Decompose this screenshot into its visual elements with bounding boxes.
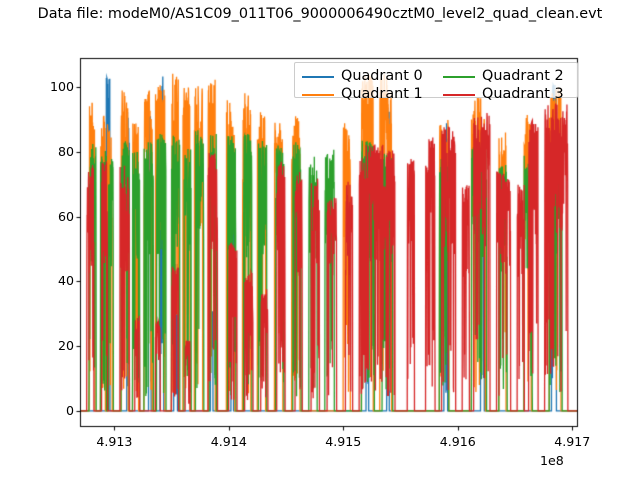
legend-label: Quadrant 3 xyxy=(482,86,564,103)
x-tick-label: 4.914 xyxy=(189,434,269,449)
matplotlib-figure: Data file: modeM0/AS1C09_011T06_90000064… xyxy=(0,0,640,480)
y-tick-label: 0 xyxy=(66,403,74,418)
x-tick-label: 4.915 xyxy=(303,434,383,449)
legend: Quadrant 0Quadrant 2Quadrant 1Quadrant 3 xyxy=(294,62,578,98)
x-tick-label: 4.916 xyxy=(418,434,498,449)
legend-color-swatch xyxy=(443,76,475,78)
legend-entries: Quadrant 0Quadrant 2Quadrant 1Quadrant 3 xyxy=(295,63,577,108)
y-tick-label: 60 xyxy=(58,209,74,224)
legend-entry: Quadrant 3 xyxy=(443,86,570,103)
x-axis-offset-text: 1e8 xyxy=(540,453,564,468)
legend-entry: Quadrant 1 xyxy=(302,86,429,103)
legend-label: Quadrant 2 xyxy=(482,68,564,85)
legend-label: Quadrant 0 xyxy=(341,68,423,85)
legend-color-swatch xyxy=(302,94,334,96)
y-tick-label: 80 xyxy=(58,144,74,159)
y-tick-label: 100 xyxy=(50,79,74,94)
legend-entry: Quadrant 2 xyxy=(443,68,570,85)
y-tick-label: 20 xyxy=(58,338,74,353)
legend-entry: Quadrant 0 xyxy=(302,68,429,85)
legend-color-swatch xyxy=(443,94,475,96)
legend-color-swatch xyxy=(302,76,334,78)
legend-label: Quadrant 1 xyxy=(341,86,423,103)
y-tick-label: 40 xyxy=(58,273,74,288)
x-tick-label: 4.917 xyxy=(532,434,612,449)
x-tick-label: 4.913 xyxy=(74,434,154,449)
